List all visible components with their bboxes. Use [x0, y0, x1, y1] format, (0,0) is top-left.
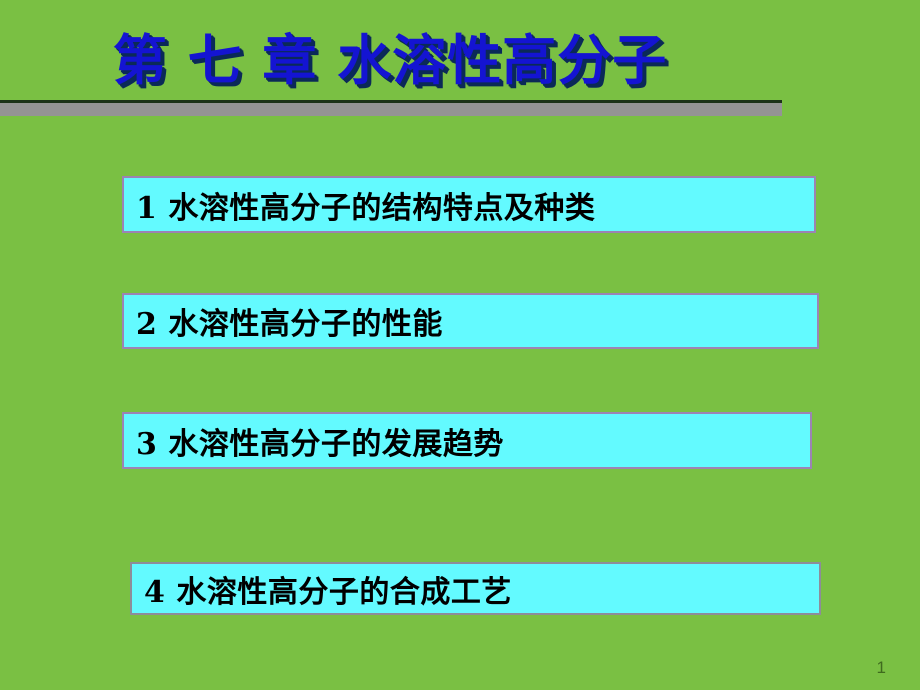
outline-item-label: 2 水溶性高分子的性能 [124, 299, 443, 343]
title-divider [0, 100, 782, 118]
title-block: 第 七 章 水溶性高分子 [0, 26, 780, 98]
page-number: 1 [877, 658, 886, 678]
outline-item-label: 4 水溶性高分子的合成工艺 [132, 567, 512, 611]
outline-item-4[interactable]: 4 水溶性高分子的合成工艺 [130, 562, 821, 615]
outline-item-2[interactable]: 2 水溶性高分子的性能 [122, 293, 819, 349]
outline-item-3[interactable]: 3 水溶性高分子的发展趋势 [122, 412, 812, 469]
outline-item-label: 1 水溶性高分子的结构特点及种类 [124, 183, 595, 227]
page-title: 第 七 章 水溶性高分子 [0, 26, 780, 96]
divider-bar [0, 103, 782, 116]
presentation-slide: 第 七 章 水溶性高分子 1 水溶性高分子的结构特点及种类 2 水溶性高分子的性… [0, 0, 920, 690]
outline-item-1[interactable]: 1 水溶性高分子的结构特点及种类 [122, 176, 816, 233]
outline-item-label: 3 水溶性高分子的发展趋势 [124, 419, 504, 463]
